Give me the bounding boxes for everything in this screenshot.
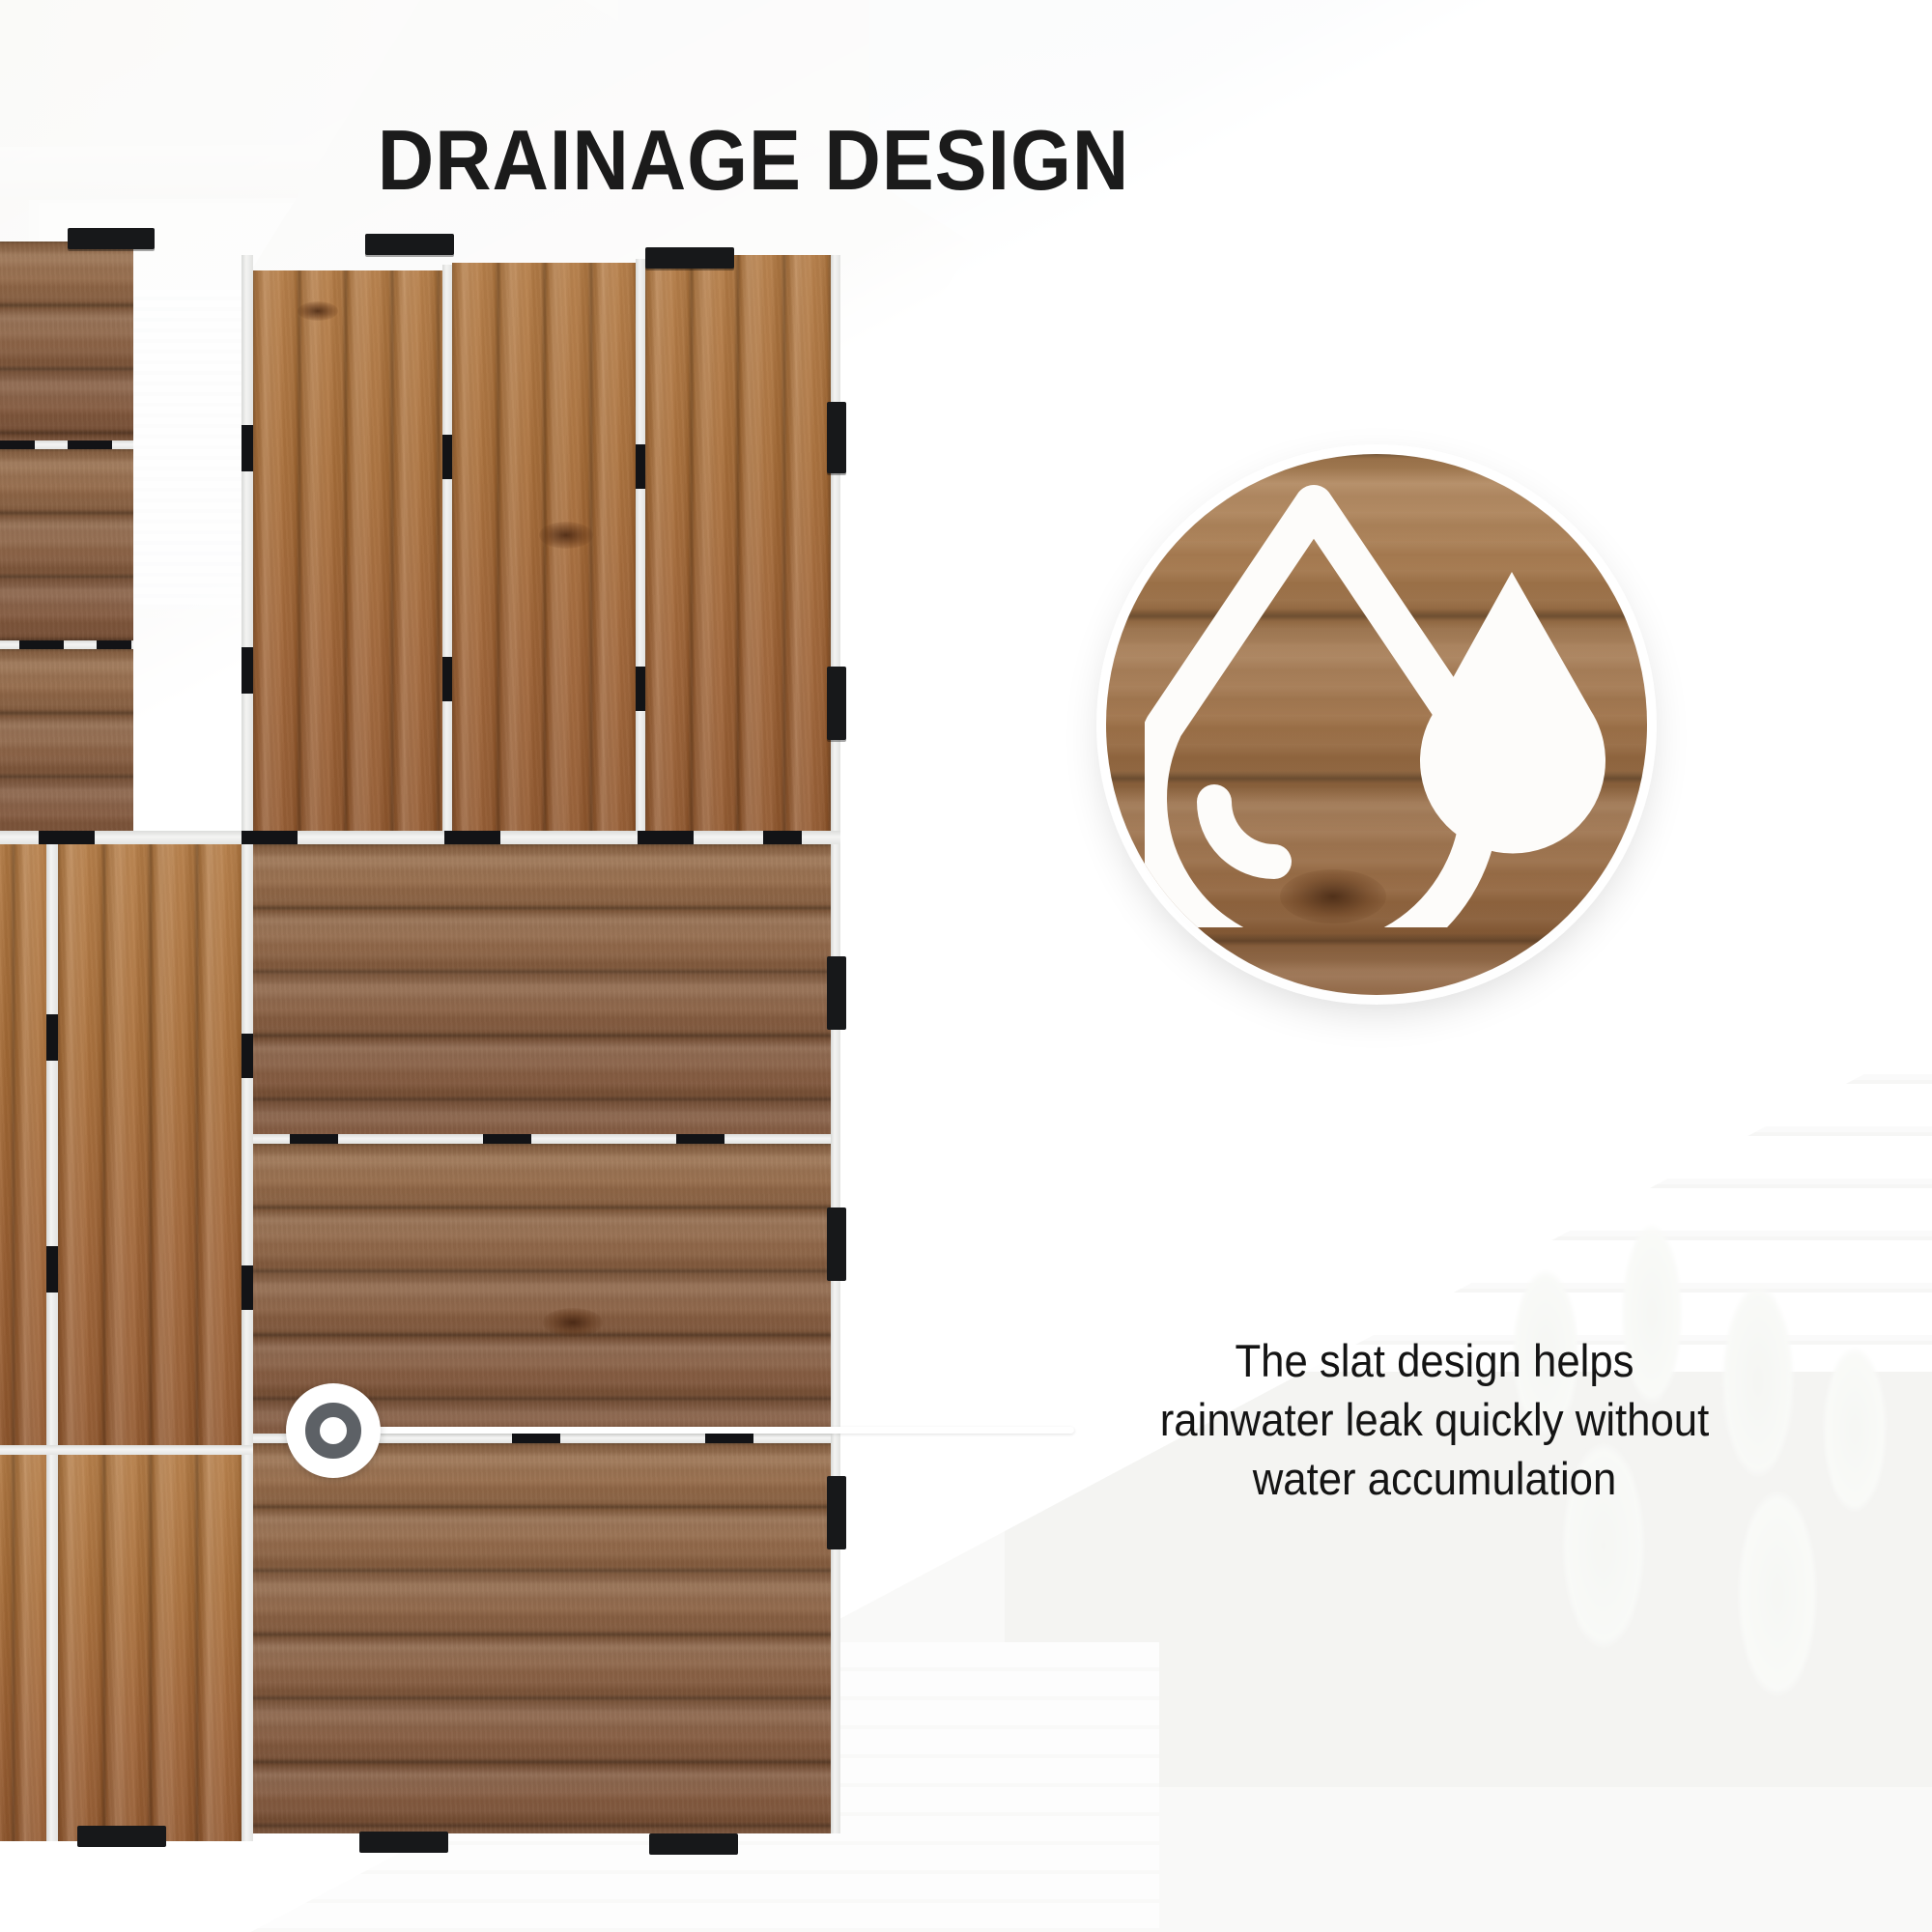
- caption-line-3: water accumulation: [1107, 1449, 1763, 1508]
- base-clip: [77, 1826, 166, 1847]
- drainage-notch: [512, 1434, 560, 1443]
- drainage-notch: [638, 831, 694, 844]
- drainage-notch: [290, 1134, 338, 1144]
- base-clip: [365, 234, 454, 255]
- base-clip: [649, 1833, 738, 1855]
- wood-grain: [452, 263, 636, 831]
- wood-grain: [0, 1455, 46, 1841]
- table-row: [0, 449, 133, 640]
- wood-knot: [543, 1308, 603, 1337]
- base-clip: [827, 956, 846, 1030]
- drainage-notch: [241, 425, 253, 471]
- wood-grain: [645, 255, 831, 831]
- drainage-notch: [442, 435, 452, 479]
- tile-gap: [46, 844, 58, 1447]
- caption-line-1: The slat design helps: [1107, 1331, 1763, 1390]
- deck-tile-assembly: [0, 241, 1077, 1840]
- wood-grain: [253, 1443, 831, 1833]
- drainage-notch: [241, 647, 253, 694]
- tile-gap: [241, 1455, 253, 1841]
- drainage-notch: [636, 444, 645, 489]
- tile-gap: [253, 1134, 831, 1144]
- drainage-notch: [39, 831, 95, 844]
- drainage-notch: [97, 640, 131, 649]
- wood-grain: [0, 449, 133, 640]
- drainage-notch: [0, 440, 35, 449]
- tile-gap: [241, 844, 253, 1447]
- table-row: [253, 1443, 831, 1833]
- caption-line-2: rainwater leak quickly without: [1107, 1390, 1763, 1449]
- wood-grain: [58, 1455, 241, 1841]
- wood-knot: [298, 301, 338, 321]
- tile-gap: [0, 1445, 253, 1455]
- tile-gap: [46, 1455, 58, 1841]
- callout-target-icon: [286, 1383, 381, 1478]
- table-row: [58, 1455, 241, 1841]
- drainage-notch: [46, 1246, 58, 1293]
- drainage-notch: [483, 1134, 531, 1144]
- tile-gap: [0, 831, 840, 844]
- drainage-notch: [705, 1434, 753, 1443]
- tile-gap: [241, 255, 253, 831]
- page-title: DRAINAGE DESIGN: [60, 118, 1446, 203]
- table-row: [0, 241, 133, 440]
- table-row: [0, 844, 46, 1445]
- base-clip: [827, 1207, 846, 1281]
- marketing-image: DRAINAGE DESIGN: [0, 0, 1932, 1932]
- wood-grain: [0, 241, 133, 440]
- tile-gap: [831, 255, 840, 835]
- wood-grain: [0, 649, 133, 838]
- wood-grain: [253, 270, 442, 831]
- drainage-notch: [241, 1034, 253, 1078]
- base-clip: [827, 402, 846, 473]
- zoom-inset-circle: [1106, 454, 1647, 995]
- base-clip: [827, 667, 846, 740]
- drainage-notch: [676, 1134, 724, 1144]
- wood-knot: [539, 522, 593, 549]
- wood-grain: [0, 844, 46, 1445]
- base-clip: [68, 228, 155, 249]
- drainage-notch: [19, 640, 64, 649]
- base-clip: [359, 1832, 448, 1853]
- drainage-notch: [241, 831, 298, 844]
- feature-caption: The slat design helps rainwater leak qui…: [1107, 1331, 1763, 1508]
- water-drop-icon: [1145, 483, 1608, 927]
- drainage-notch: [444, 831, 500, 844]
- wood-grain: [253, 844, 831, 1134]
- table-row: [58, 844, 241, 1445]
- base-clip: [645, 247, 734, 269]
- callout-leader-line: [340, 1427, 1074, 1434]
- table-row: [0, 649, 133, 838]
- drainage-notch: [763, 831, 802, 844]
- table-row: [253, 844, 831, 1134]
- drainage-notch: [636, 667, 645, 711]
- tile-gap: [442, 265, 452, 835]
- table-row: [452, 263, 636, 831]
- tile-gap: [636, 259, 645, 833]
- callout-ring: [305, 1403, 361, 1459]
- drainage-notch: [68, 440, 112, 449]
- drainage-notch: [46, 1014, 58, 1061]
- table-row: [0, 1455, 46, 1841]
- table-row: [253, 270, 442, 831]
- drainage-notch: [442, 657, 452, 701]
- wood-grain: [58, 844, 241, 1445]
- base-clip: [827, 1476, 846, 1549]
- table-row: [645, 255, 831, 831]
- drainage-notch: [241, 1265, 253, 1310]
